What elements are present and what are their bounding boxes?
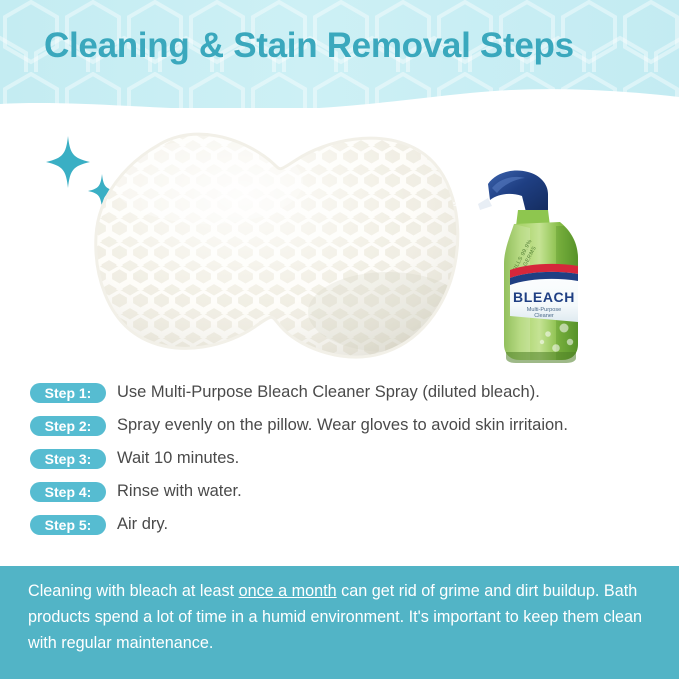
header-banner: Cleaning & Stain Removal Steps [0,0,679,112]
footer-highlight: once a month [239,582,337,600]
bath-sponge-pillow [88,122,468,367]
step-badge-4: Step 4: [30,482,106,502]
step-text-3: Wait 10 minutes. [117,449,239,468]
bleach-spray-bottle: KILLS 99.9% OF GERMS BLEACH Multi-Purpos… [452,166,602,366]
step-text-1: Use Multi-Purpose Bleach Cleaner Spray (… [117,383,540,402]
step-badge-3: Step 3: [30,449,106,469]
step-row: Step 5: Air dry. [0,508,679,541]
nozzle [478,198,492,210]
bottle-label: BLEACH Multi-Purpose Cleaner [510,264,578,322]
sparkle-star-large [46,136,90,188]
step-text-2: Spray evenly on the pillow. Wear gloves … [117,416,568,435]
svg-text:Cleaner: Cleaner [534,313,554,319]
step-badge-1: Step 1: [30,383,106,403]
step-row: Step 2: Spray evenly on the pillow. Wear… [0,409,679,442]
footer-paragraph: Cleaning with bleach at least once a mon… [28,578,658,656]
step-text-5: Air dry. [117,515,168,534]
step-row: Step 1: Use Multi-Purpose Bleach Cleaner… [0,376,679,409]
page-title: Cleaning & Stain Removal Steps [44,26,574,66]
footer-note: Cleaning with bleach at least once a mon… [0,566,679,679]
step-row: Step 3: Wait 10 minutes. [0,442,679,475]
svg-text:BLEACH: BLEACH [513,289,575,305]
step-badge-5: Step 5: [30,515,106,535]
header-wave-divider [0,60,679,112]
footer-part1: Cleaning with bleach at least [28,582,239,600]
hero-illustration: KILLS 99.9% OF GERMS BLEACH Multi-Purpos… [0,108,679,370]
steps-list: Step 1: Use Multi-Purpose Bleach Cleaner… [0,376,679,554]
step-row: Step 4: Rinse with water. [0,475,679,508]
infographic-page: Cleaning & Stain Removal Steps [0,0,679,679]
step-text-4: Rinse with water. [117,482,242,501]
step-badge-2: Step 2: [30,416,106,436]
